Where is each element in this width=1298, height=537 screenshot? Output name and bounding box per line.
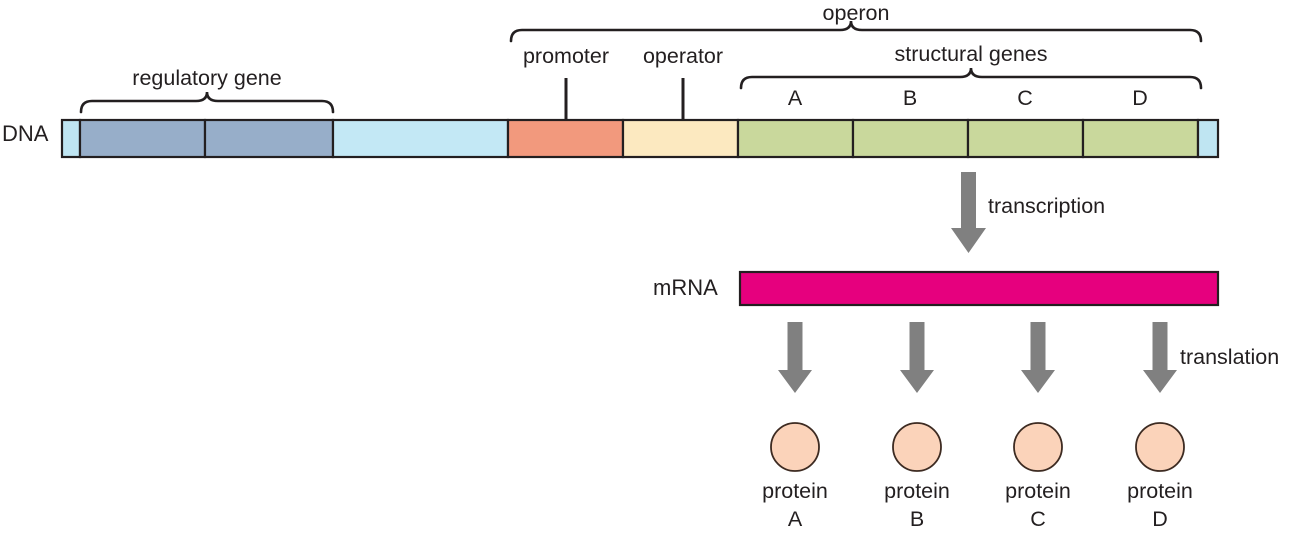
dna-segment-regulatory-gene-part-1 [80,120,205,157]
protein-label-c: protein [1005,481,1071,503]
translation-products [771,322,1184,471]
protein-label-a: protein [762,481,828,503]
dna-segment-promoter [508,120,623,157]
protein-letter-a: A [788,509,802,531]
dna-segment-left-cap [62,120,80,157]
protein-label-b: protein [884,481,950,503]
translation-arrow-a [778,322,812,393]
mrna-label: mRNA [653,277,718,299]
dna-strand [62,120,1218,157]
dna-label: DNA [2,123,48,145]
promoter-label: promoter [523,46,609,68]
structural-genes-bracket [741,68,1201,88]
gene-letter-a: A [788,88,802,110]
transcription-arrow [951,172,986,253]
dna-segment-spacer [333,120,508,157]
transcription-label: transcription [988,196,1105,218]
translation-arrow-d [1143,322,1177,393]
dna-segment-structural-gene-c [968,120,1083,157]
dna-segment-right-cap [1198,120,1218,157]
protein-letter-d: D [1152,509,1168,531]
protein-circle-b [893,423,941,471]
translation-label: translation [1180,347,1279,369]
protein-letter-c: C [1030,509,1046,531]
operon-label: operon [823,3,890,25]
dna-segment-structural-gene-b [853,120,968,157]
protein-label-d: protein [1127,481,1193,503]
protein-circle-d [1136,423,1184,471]
regulatory-gene-label: regulatory gene [132,68,281,90]
gene-letter-b: B [903,88,917,110]
dna-segment-operator [623,120,738,157]
gene-letter-c: C [1017,88,1033,110]
regulatory-gene-bracket [81,92,333,112]
dna-segment-structural-gene-a [738,120,853,157]
protein-letter-b: B [910,509,924,531]
dna-segment-regulatory-gene-part-2 [205,120,333,157]
dna-segment-structural-gene-d [1083,120,1198,157]
protein-circle-a [771,423,819,471]
translation-arrow-c [1021,322,1055,393]
structural-genes-label: structural genes [895,44,1048,66]
operon-diagram: DNA regulatory gene operon promoter oper… [0,0,1298,537]
gene-letter-d: D [1132,88,1148,110]
protein-circle-c [1014,423,1062,471]
mrna-bar [740,272,1218,305]
mrna-strand [740,272,1218,305]
operator-label: operator [643,46,723,68]
translation-arrow-b [900,322,934,393]
